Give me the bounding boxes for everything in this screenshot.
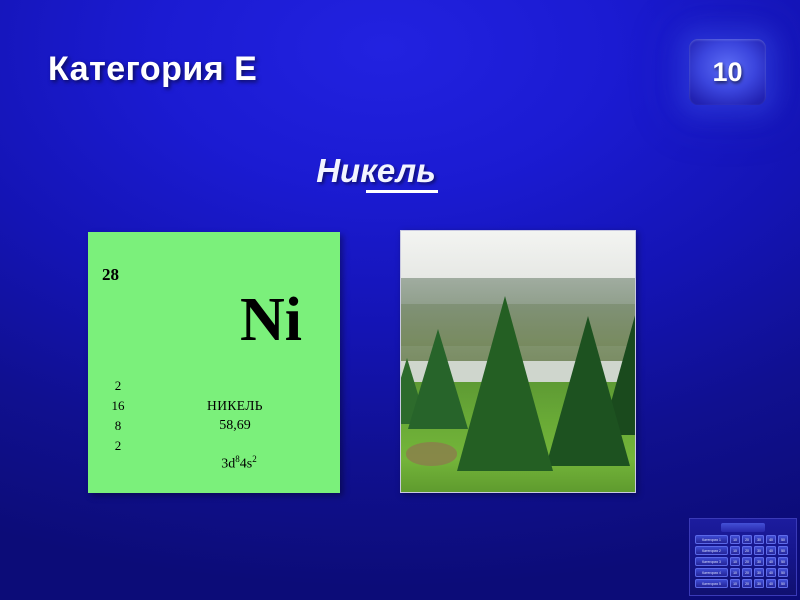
board-value-cell[interactable]: 40 (766, 546, 776, 555)
board-value-cell[interactable]: 30 (754, 546, 764, 555)
board-value-cell[interactable]: 50 (778, 557, 788, 566)
board-value-cell[interactable]: 20 (742, 546, 752, 555)
spruce-tree-icon (457, 296, 553, 471)
board-category-label[interactable]: Категория 3 (695, 557, 728, 566)
board-value-cell[interactable]: 50 (778, 535, 788, 544)
board-value-cell[interactable]: 40 (766, 579, 776, 588)
board-value-cell[interactable]: 50 (778, 546, 788, 555)
score-badge[interactable]: 10 (689, 39, 766, 105)
element-electron-configuration: 3d84s2 (88, 454, 340, 473)
board-row[interactable]: Категория 1 10 20 30 40 50 (695, 535, 791, 544)
element-subtitle: Никель (0, 152, 800, 190)
element-atomic-mass: 58,69 (88, 418, 340, 434)
board-value-cell[interactable]: 10 (730, 557, 740, 566)
photo-dirt-patch (406, 442, 457, 465)
board-value-cell[interactable]: 20 (742, 579, 752, 588)
element-name: НИКЕЛЬ (88, 398, 340, 414)
config-exponent-4s: 2 (252, 454, 257, 464)
board-value-cell[interactable]: 10 (730, 535, 740, 544)
board-value-cell[interactable]: 30 (754, 557, 764, 566)
board-value-cell[interactable]: 10 (730, 568, 740, 577)
board-value-cell[interactable]: 40 (766, 535, 776, 544)
page-title: Категория Е (48, 50, 257, 89)
board-row[interactable]: Категория 5 10 20 30 40 50 (695, 579, 791, 588)
board-value-cell[interactable]: 20 (742, 568, 752, 577)
board-value-cell[interactable]: 20 (742, 557, 752, 566)
board-thumbnail-header (721, 523, 765, 532)
element-subtitle-text: Никель (316, 152, 436, 190)
board-value-cell[interactable]: 30 (754, 579, 764, 588)
shell-count: 2 (106, 376, 130, 396)
board-value-cell[interactable]: 10 (730, 546, 740, 555)
board-category-label[interactable]: Категория 2 (695, 546, 728, 555)
board-row[interactable]: Категория 3 10 20 30 40 50 (695, 557, 791, 566)
config-orbital-4s: 4s (240, 457, 252, 472)
board-value-cell[interactable]: 50 (778, 568, 788, 577)
board-value-cell[interactable]: 40 (766, 557, 776, 566)
periodic-element-card: 28 Ni 2 16 8 2 НИКЕЛЬ 58,69 3d84s2 (88, 232, 340, 493)
config-orbital-3d: 3d (221, 457, 235, 472)
score-badge-value: 10 (712, 59, 742, 86)
board-row[interactable]: Категория 2 10 20 30 40 50 (695, 546, 791, 555)
spruce-tree-icon (546, 316, 630, 466)
board-value-cell[interactable]: 30 (754, 535, 764, 544)
board-category-label[interactable]: Категория 4 (695, 568, 728, 577)
board-value-cell[interactable]: 20 (742, 535, 752, 544)
board-row[interactable]: Категория 4 10 20 30 40 50 (695, 568, 791, 577)
board-category-label[interactable]: Категория 5 (695, 579, 728, 588)
board-value-cell[interactable]: 30 (754, 568, 764, 577)
board-value-cell[interactable]: 40 (766, 568, 776, 577)
board-category-label[interactable]: Категория 1 (695, 535, 728, 544)
board-value-cell[interactable]: 10 (730, 579, 740, 588)
board-thumbnail-button[interactable]: Категория 1 10 20 30 40 50 Категория 2 1… (689, 518, 797, 596)
element-symbol: Ni (240, 289, 302, 351)
element-electron-shells: 2 16 8 2 (106, 376, 130, 457)
element-photo (400, 230, 636, 493)
element-atomic-number: 28 (102, 265, 119, 285)
quiz-slide: Категория Е 10 Никель 28 Ni 2 16 8 2 НИК… (0, 0, 800, 600)
board-value-cell[interactable]: 50 (778, 579, 788, 588)
